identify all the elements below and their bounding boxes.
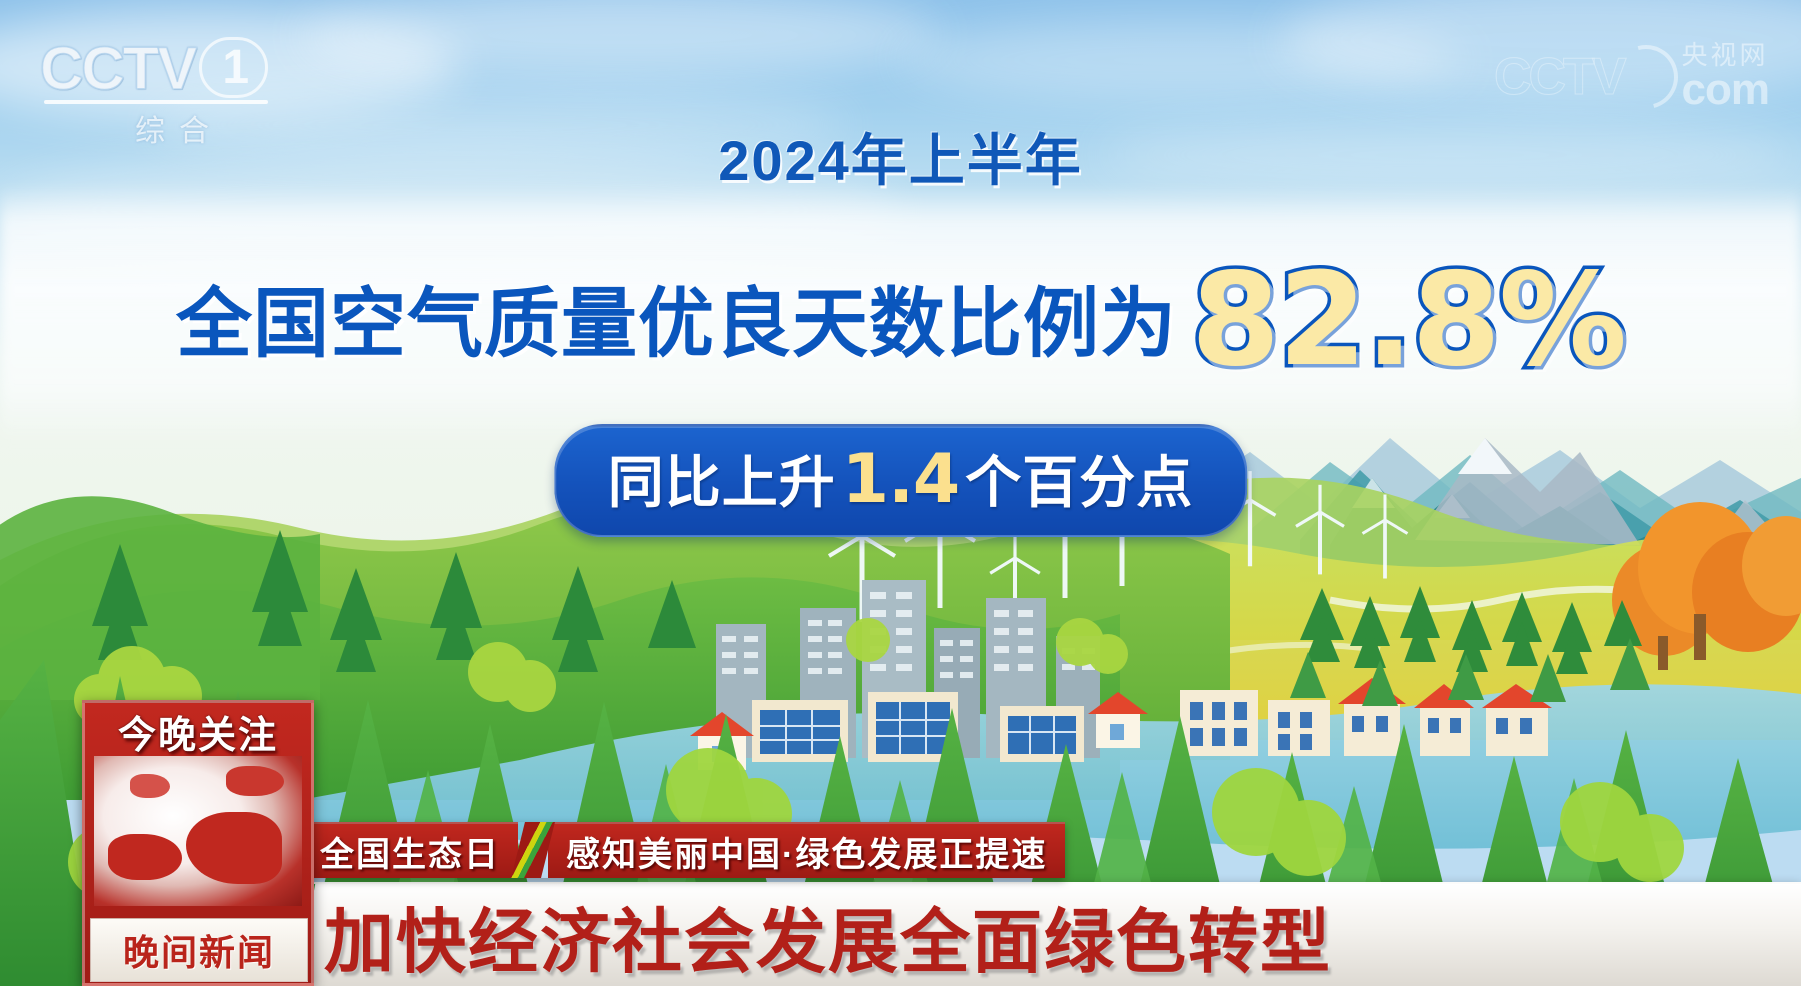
cctv-dot-com-watermark: CCTV 央视网 com	[1494, 42, 1769, 112]
globe-icon	[94, 756, 302, 906]
program-name-label: 晚间新闻	[90, 918, 308, 982]
stat-main-line: 全国空气质量优良天数比例为 82.8%	[0, 232, 1801, 381]
stat-period-label: 2024年上半年	[0, 116, 1801, 197]
headline-bar: 加快经济社会发展全面绿色转型	[302, 882, 1801, 986]
comparison-prefix: 同比上升	[608, 438, 836, 519]
topic-tag-label: 全国生态日	[302, 822, 518, 878]
comparison-value: 1.4	[842, 440, 959, 519]
cctv-wordmark: CCTV	[40, 35, 195, 102]
channel-number-badge: 1	[199, 37, 268, 98]
comparison-suffix: 个百分点	[965, 438, 1193, 519]
watermark-brand: CCTV	[1494, 47, 1624, 107]
subtitle-label: 感知美丽中国·绿色发展正提速	[548, 822, 1065, 878]
watermark-domain: com	[1682, 65, 1769, 114]
comparison-pill: 同比上升 1.4 个百分点	[554, 424, 1247, 537]
program-tag-label: 今晚关注	[82, 704, 314, 759]
stat-value: 82.8%	[1191, 246, 1625, 395]
stat-lead-text: 全国空气质量优良天数比例为	[176, 262, 1177, 372]
broadcast-frame: CCTV1 综合 CCTV 央视网 com 2024年上半年 全国空气质量优良天…	[0, 0, 1801, 986]
program-badge: 今晚关注 晚间新闻	[82, 700, 314, 986]
subtitle-bar: 全国生态日 感知美丽中国·绿色发展正提速	[302, 822, 1065, 878]
channel-logo-underline	[44, 100, 268, 104]
headline-label: 加快经济社会发展全面绿色转型	[324, 886, 1332, 986]
